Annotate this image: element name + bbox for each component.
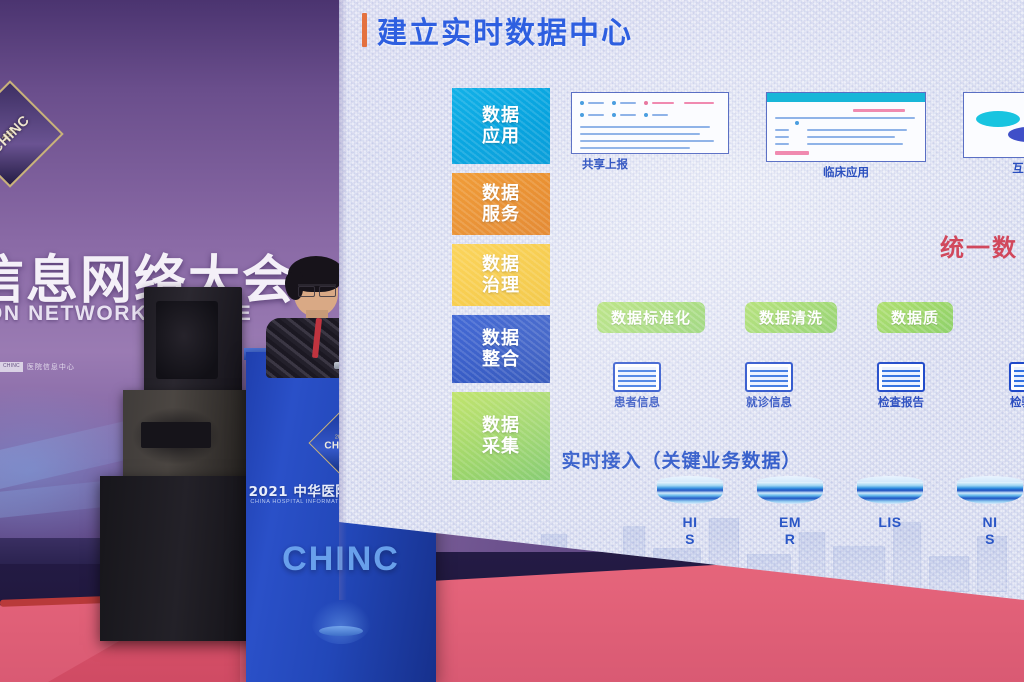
doc-label: 患者信息 (601, 396, 673, 410)
db-label-line1: EM (757, 514, 823, 531)
database-emr: EM R (757, 476, 823, 548)
screenshot-thumbnail (571, 92, 729, 154)
realtime-ingest-heading: 实时接入（关键业务数据） (339, 446, 1024, 473)
table-grid-icon (877, 362, 925, 392)
title-accent-bar (362, 13, 367, 47)
doc-label: 检验报告 (997, 396, 1024, 410)
layer-label-line1: 数据 (482, 254, 520, 275)
banner-logo-name: CHINC (0, 112, 32, 156)
layer-block-data-service: 数据 服务 (452, 173, 550, 235)
table-grid-icon (1009, 362, 1024, 392)
pa-speaker-top (144, 287, 242, 392)
db-label-line1: LIS (857, 514, 923, 531)
doc-exam-report: 检查报告 (865, 362, 937, 410)
db-label-line1: NI (957, 514, 1023, 531)
layer-block-data-application: 数据 应用 (452, 88, 550, 164)
doc-label: 就诊信息 (733, 396, 805, 410)
layer-label-line2: 应用 (482, 126, 520, 147)
screenshot-caption: 临床应用 (766, 166, 926, 179)
doc-lab-report: 检验报告 (997, 362, 1024, 410)
database-nis: NI S (957, 476, 1023, 548)
source-database-row: HI S EM R LIS (657, 476, 1023, 548)
banner-sponsor-logos: CHINC 医院信息中心 (0, 352, 120, 382)
layer-label-line1: 数据 (482, 105, 520, 126)
layer-label-line1: 数据 (482, 415, 520, 436)
table-grid-icon (613, 362, 661, 392)
projection-screen-slide: 建立实时数据中心 数据 应用 数据 服务 数据 治理 数据 整合 数据 采集 (339, 0, 1024, 600)
database-his: HI S (657, 476, 723, 548)
database-cylinder-icon (757, 476, 823, 510)
badge-data-quality: 数据质 (877, 302, 953, 333)
db-label-line2: S (657, 531, 723, 548)
screenshot-root: 2021 CHINC 信息网络大会 ON NETWORK ERENCE CHIN… (0, 0, 1024, 682)
doc-patient-info: 患者信息 (601, 362, 673, 410)
app-screenshot-interoperability: 互 (963, 92, 1024, 175)
db-label-line2: R (757, 531, 823, 548)
podium-brand-text: CHINC (246, 540, 436, 579)
database-cylinder-icon (957, 476, 1023, 510)
layer-label-line2: 治理 (482, 275, 520, 296)
layer-label-line1: 数据 (482, 183, 520, 204)
governance-badge-row: 数据标准化 数据清洗 数据质 (597, 302, 953, 333)
screenshot-caption: 共享上报 (571, 158, 639, 171)
db-label-line1: HI (657, 514, 723, 531)
layer-block-data-integration: 数据 整合 (452, 315, 550, 383)
screenshot-thumbnail (766, 92, 926, 162)
doc-label: 检查报告 (865, 396, 937, 410)
database-cylinder-icon (857, 476, 923, 510)
app-screenshot-row: 共享上报 临床应用 (571, 92, 1023, 200)
sponsor-logo-1: CHINC (0, 362, 23, 372)
layer-block-data-governance: 数据 治理 (452, 244, 550, 306)
data-document-row: 患者信息 就诊信息 检查报告 检验报告 (601, 362, 1024, 410)
screenshot-thumbnail (963, 92, 1024, 158)
table-grid-icon (745, 362, 793, 392)
speaker-grille (141, 422, 211, 448)
layer-label-line2: 整合 (482, 349, 520, 370)
unified-data-text: 统一数 (940, 228, 1018, 263)
db-label-line2: S (957, 531, 1023, 548)
doc-visit-info: 就诊信息 (733, 362, 805, 410)
podium-emblem-graphic (311, 600, 371, 644)
slide-title-row: 建立实时数据中心 (362, 8, 633, 52)
pa-speaker-middle (123, 390, 250, 477)
presenter-glasses-icon (298, 284, 336, 293)
database-lis: LIS (857, 476, 923, 548)
app-screenshot-clinical: 临床应用 (766, 92, 926, 179)
slide-title: 建立实时数据中心 (377, 8, 633, 52)
badge-data-cleansing: 数据清洗 (745, 302, 837, 333)
database-cylinder-icon (657, 476, 723, 510)
app-screenshot-shared-report: 共享上报 (571, 92, 729, 171)
layer-label-line2: 服务 (482, 204, 520, 225)
layer-label-line1: 数据 (482, 328, 520, 349)
data-layer-stack: 数据 应用 数据 服务 数据 治理 数据 整合 数据 采集 (452, 88, 550, 489)
badge-data-standardization: 数据标准化 (597, 302, 705, 333)
sponsor-logo-2: 医院信息中心 (27, 362, 75, 372)
screenshot-caption: 互 (963, 162, 1024, 175)
